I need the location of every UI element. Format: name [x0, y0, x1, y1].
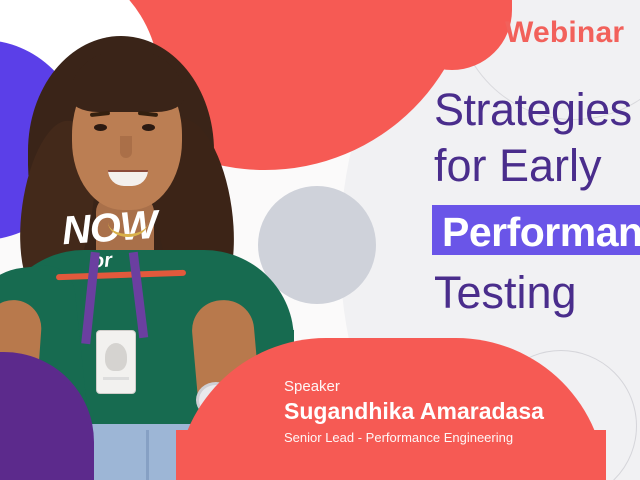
id-badge — [96, 330, 136, 394]
eyebrow-label: Webinar — [505, 16, 624, 50]
title-line-2: for Early — [434, 138, 602, 194]
title-line-4: Testing — [434, 265, 577, 321]
title-line-1: Strategies — [434, 82, 640, 138]
nose — [120, 136, 132, 158]
jeans-seam — [146, 430, 149, 480]
title-highlight-word: Performance — [442, 210, 640, 254]
hair-fringe — [70, 52, 184, 112]
eye-left — [94, 124, 107, 131]
necklace — [108, 208, 148, 237]
webinar-promo-banner: NOW or Webinar Strategies for Early Perf… — [0, 0, 640, 480]
eye-right — [142, 124, 155, 131]
id-badge-photo — [105, 343, 127, 371]
id-badge-line — [103, 377, 129, 380]
speaker-role: Senior Lead - Performance Engineering — [284, 430, 513, 445]
speaker-name: Sugandhika Amaradasa — [284, 398, 544, 425]
speaker-label: Speaker — [284, 378, 340, 395]
